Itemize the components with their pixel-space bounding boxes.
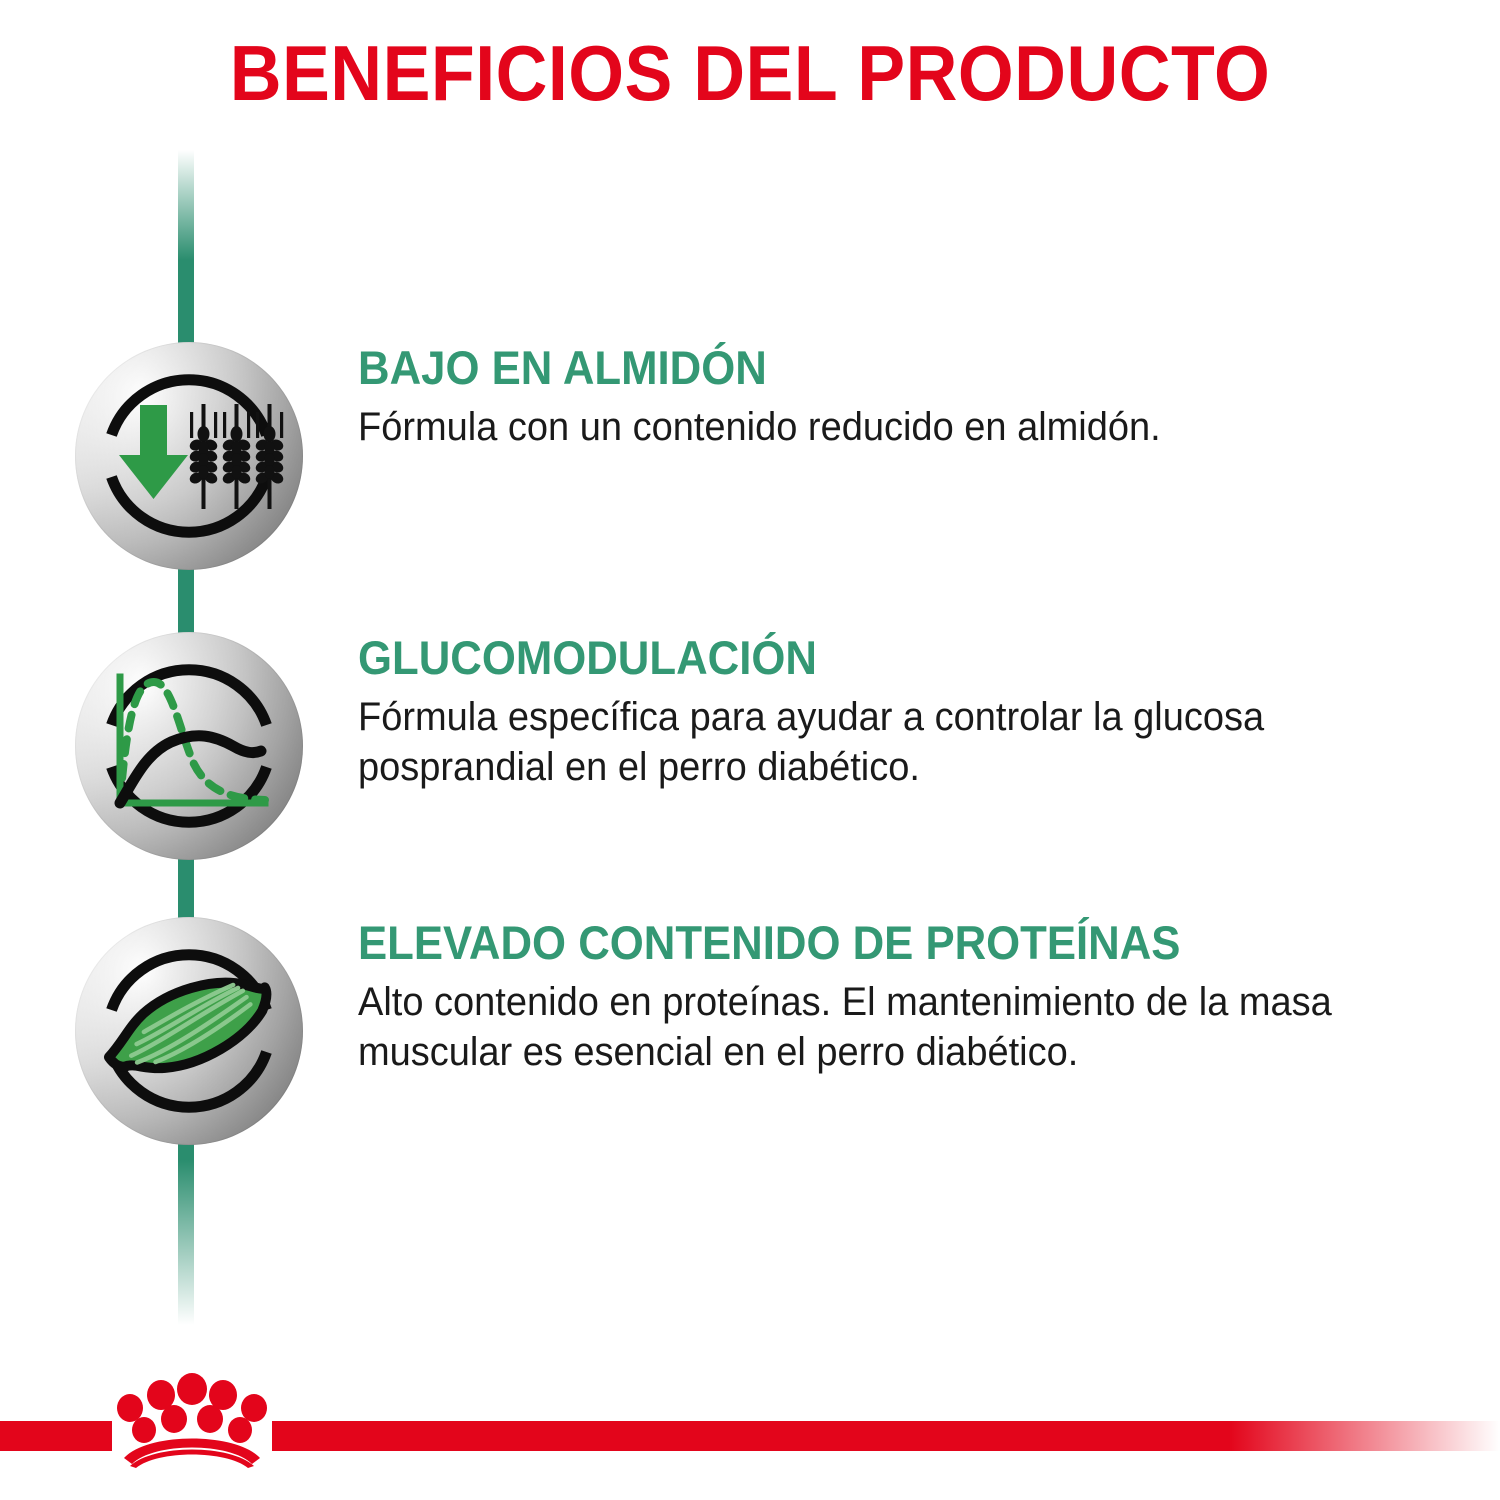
product-benefits-page: BENEFICIOS DEL PRODUCTO [0,0,1500,1500]
glucomodulation-icon-glyph [75,632,303,860]
benefit-body: Fórmula específica para ayudar a control… [358,692,1413,792]
benefit-body: Alto contenido en proteínas. El mantenim… [358,977,1413,1077]
page-title: BENEFICIOS DEL PRODUCTO [60,28,1440,119]
footer-bar-left [0,1421,112,1451]
benefit-text-block: ELEVADO CONTENIDO DE PROTEÍNAS Alto cont… [358,917,1468,1077]
muscle-icon-glyph [75,917,303,1145]
benefit-body: Fórmula con un contenido reducido en alm… [358,402,1413,452]
benefit-heading: ELEVADO CONTENIDO DE PROTEÍNAS [358,917,1390,969]
low-starch-icon [75,342,303,570]
benefit-text-block: BAJO EN ALMIDÓN Fórmula con un contenido… [358,342,1468,452]
benefit-heading: GLUCOMODULACIÓN [358,632,1390,684]
royal-canin-crown-logo [108,1372,276,1468]
glucomodulation-icon [75,632,303,860]
benefit-heading: BAJO EN ALMIDÓN [358,342,1390,394]
low-starch-icon-glyph [75,342,303,570]
benefit-text-block: GLUCOMODULACIÓN Fórmula específica para … [358,632,1468,792]
footer-bar-right [272,1421,1500,1451]
high-protein-muscle-icon [75,917,303,1145]
